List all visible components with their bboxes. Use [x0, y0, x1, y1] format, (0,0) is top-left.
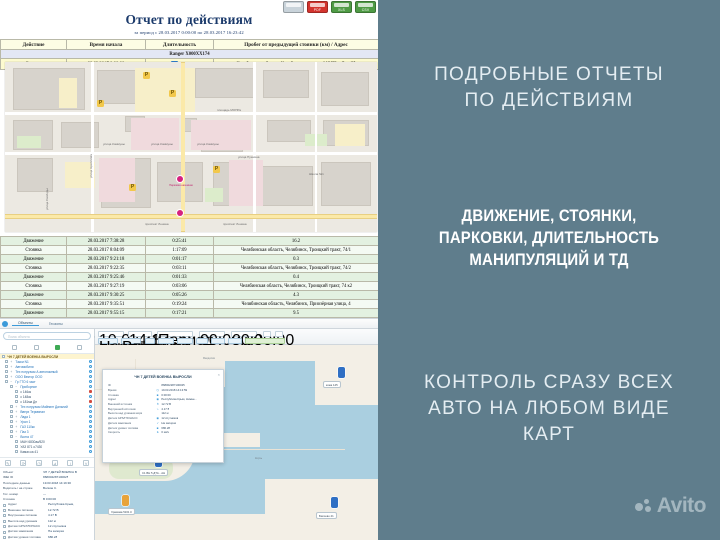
tree-checkbox[interactable]	[5, 365, 8, 368]
popup-value: 868002287100025	[161, 383, 184, 387]
apply-button[interactable]	[245, 338, 285, 344]
promo-bold-line3: МАНИПУЛЯЦИЙ И ТД	[399, 249, 700, 271]
report-toolbar: PDF XLS CSV	[283, 1, 376, 13]
cell-start: 28.03.2017 9:22:35	[67, 264, 146, 273]
filter-group-icon[interactable]	[34, 345, 39, 350]
map-road-major	[5, 214, 377, 219]
property-checkbox[interactable]	[3, 531, 6, 534]
tree-checkbox[interactable]	[15, 400, 18, 403]
popup-key: Внешний источник	[108, 402, 154, 406]
parking-icon: P	[213, 166, 220, 173]
layers-icon[interactable]	[275, 331, 283, 337]
map-marker-pin[interactable]	[177, 176, 183, 182]
zoom-in-button[interactable]	[158, 338, 174, 344]
tracking-map[interactable]: 19.03.18 14:17:30 Период 00:00:00 00:00:…	[95, 329, 378, 540]
cell-start: 28.03.2017 9:25:46	[67, 273, 146, 282]
tree-checkbox[interactable]	[10, 430, 13, 433]
status-icon	[89, 425, 92, 428]
marker-label: Парковка наземная	[157, 184, 205, 187]
expand-icon[interactable]: −	[15, 435, 18, 439]
cell-duration: 0:05:26	[146, 291, 214, 300]
table-row[interactable]: Движение 28.03.2017 9:55:15 0:17:21 9.5	[1, 309, 379, 318]
expand-icon[interactable]: +	[15, 425, 18, 429]
cell-action: Стоянка	[1, 282, 67, 291]
status-icon	[89, 365, 92, 368]
cell-start: 28.03.2017 9:55:15	[67, 309, 146, 318]
promo-bold-block: ДВИЖЕНИЕ, СТОЯНКИ, ПАРКОВКИ, ДЛИТЕЛЬНОСТ…	[399, 205, 700, 271]
tree-item-label: Гр ГТО 6 част	[15, 380, 35, 384]
cell-start: 28.03.2017 9:27:19	[67, 282, 146, 291]
close-icon[interactable]: ×	[218, 372, 220, 377]
cell-duration: 0:03:11	[146, 264, 214, 273]
print-button[interactable]	[283, 1, 304, 13]
filter-all-icon[interactable]	[12, 345, 17, 350]
report-table-continued: Движение 28.03.2017 7:38:28 0:25:41 16.2…	[0, 236, 378, 318]
date-to-input[interactable]: 00:00:00	[199, 331, 225, 337]
tree-checkbox[interactable]	[10, 420, 13, 423]
cell-duration: 0:25:41	[146, 237, 214, 246]
cell-duration: 0:17:21	[146, 309, 214, 318]
edit-icon[interactable]: ✎	[5, 460, 11, 466]
avito-logo-text: Avito	[657, 494, 706, 518]
expand-icon[interactable]: +	[10, 360, 13, 364]
tree-checkbox[interactable]	[15, 440, 18, 443]
popup-title: ЧН 7 ДЕТЕЙ ВОЕНКА ВЫРОСЛИ	[103, 370, 223, 383]
tree-checkbox[interactable]	[5, 375, 8, 378]
status-icon	[89, 360, 92, 363]
popup-key: Датчик уровня топлива	[108, 426, 154, 430]
avito-logo-icon	[635, 499, 652, 514]
popup-value: 4.17 В	[161, 407, 169, 411]
street-label: улица Коммуны	[197, 142, 219, 146]
chart-icon[interactable]: ⊿	[52, 460, 58, 466]
popup-value: 12.72 В	[161, 402, 171, 406]
promo-headline-2-line2: АВТО НА ЛЮБОМ ВИДЕ	[378, 396, 720, 422]
object-properties: ОбъектЧН 7 ДЕТЕЙ ВОЕНКА В IMEI ID8680022…	[0, 468, 94, 540]
status-icon-red	[89, 390, 92, 393]
cell-duration: 0:01:17	[146, 255, 214, 264]
refresh-icon[interactable]: ⟳	[20, 460, 26, 466]
tree-checkbox[interactable]	[10, 385, 13, 388]
parking-icon: P	[143, 72, 150, 79]
map-road	[5, 112, 377, 115]
col-distance: Пробег от предыдущей стоянки (км) / Адре…	[214, 40, 379, 50]
promo-bold-line1: ДВИЖЕНИЕ, СТОЯНКИ,	[399, 205, 700, 227]
tree-filter-icons	[0, 343, 94, 354]
back-button[interactable]: Назад	[98, 338, 118, 344]
cell-duration: 0:19:24	[146, 300, 214, 309]
csv-button[interactable]: CSV	[355, 1, 376, 13]
vehicle-group-row: Ranger X000XX174	[1, 50, 379, 59]
popup-value: 0 км/ч	[161, 430, 169, 434]
street-label: улица Пушкина	[238, 155, 259, 159]
popup-value: 12 спутников	[161, 416, 178, 420]
property-key: Датчик уровня топлива	[8, 535, 46, 540]
parking-icon: ■	[156, 393, 159, 397]
cell-duration: 0:01:33	[146, 273, 214, 282]
object-toolbar: ✎ ⟳ ◷ ⊿ i ⋎	[0, 457, 94, 468]
table-row[interactable]: Движение 28.03.2017 7:38:28 0:25:41 16.2	[1, 237, 379, 246]
promo-headline-1: ПОДРОБНЫЕ ОТЧЕТЫ ПО ДЕЙСТВИЯМ	[378, 62, 720, 114]
vehicle-marker-label: Бахчево 41	[316, 512, 337, 519]
search-input[interactable]: Поиск объекта ×	[3, 332, 91, 340]
cell-start: 28.03.2017 8:04:09	[67, 246, 146, 255]
street-label: улица Свободы	[45, 188, 49, 210]
tree-item-label: Вверх Терминал	[20, 410, 44, 414]
status-icon	[89, 415, 92, 418]
property-checkbox[interactable]	[3, 504, 6, 507]
tree-item-label: Приборное	[20, 385, 37, 389]
property-checkbox[interactable]	[3, 536, 6, 539]
tab-geozones[interactable]: Геозоны	[43, 322, 69, 326]
vehicle-marker[interactable]	[338, 367, 345, 378]
tree-checkbox[interactable]	[15, 450, 18, 453]
expand-icon[interactable]: +	[15, 410, 18, 414]
parking-icon: P	[129, 184, 136, 191]
status-icon	[89, 375, 92, 378]
map-road	[253, 62, 256, 232]
cell-info: Челябинская область, Челябинск, Троицкий…	[214, 282, 379, 291]
tree-item-label: ЧН 7 ДЕТЕЙ ВОЕНКА ВЫРОСЛИ	[7, 355, 58, 359]
promo-headline-1-line2: ПО ДЕЙСТВИЯМ	[378, 88, 720, 114]
mode-select[interactable]: Период	[157, 331, 193, 337]
property-checkbox[interactable]	[3, 520, 6, 523]
status-icon	[89, 430, 92, 433]
location-icon: ◉	[156, 397, 159, 401]
popup-value: 19.03.2018 14:13:59	[161, 388, 187, 392]
tree-checkbox[interactable]	[10, 405, 13, 408]
tree-item-label: Автомобили	[15, 365, 33, 369]
report-period: за период с 28.03.2017 0:00:00 по 28.03.…	[0, 30, 378, 35]
cell-info: 4.3	[214, 291, 379, 300]
tree-checkbox[interactable]	[15, 390, 18, 393]
calendar-icon[interactable]	[263, 331, 271, 337]
street-label: площадь МОПРа	[217, 108, 241, 112]
map-land	[315, 345, 378, 405]
power-icon: ↯	[156, 402, 159, 406]
promo-bold-line2: ПАРКОВКИ, ДЛИТЕЛЬНОСТЬ	[399, 227, 700, 249]
cell-info: Челябинская область, Челябинск, Приозёрн…	[214, 300, 379, 309]
table-row[interactable]: Движение 28.03.2017 9:30:25 0:05:26 4.3	[1, 291, 379, 300]
popup-key: Датчик зажигания	[108, 421, 154, 425]
city-street-map[interactable]: площадь МОПРа улица Коммуны улица Коммун…	[5, 62, 377, 232]
status-icon	[89, 385, 92, 388]
property-value: 680.28	[48, 535, 57, 540]
status-icon	[89, 410, 92, 413]
fuel-icon: ■	[156, 426, 159, 430]
pdf-button[interactable]: PDF	[307, 1, 328, 13]
cell-action: Стоянка	[1, 264, 67, 273]
tree-item-label: с 148кк	[20, 395, 31, 399]
cell-start: 28.03.2017 7:38:28	[67, 237, 146, 246]
place-label: Феодосия	[203, 357, 215, 360]
cell-info: 0.3	[214, 255, 379, 264]
tree-item[interactable]: Камаз ка 41	[0, 449, 94, 454]
street-label: улица Коммуны	[151, 142, 173, 146]
cell-action: Стоянка	[1, 246, 67, 255]
filter-online-icon[interactable]	[55, 345, 60, 350]
status-icon	[89, 440, 92, 443]
expand-icon[interactable]: −	[15, 385, 18, 389]
left-collage: PDF XLS CSV Отчет по действиям за период…	[0, 0, 378, 540]
street-label: проспект Ленина	[223, 222, 247, 226]
table-row[interactable]: Стоянка 28.03.2017 8:04:09 1:17:09 Челяб…	[1, 246, 379, 255]
vehicle-marker[interactable]	[331, 497, 338, 508]
promo-panel: ПОДРОБНЫЕ ОТЧЕТЫ ПО ДЕЙСТВИЯМ ДВИЖЕНИЕ, …	[378, 0, 720, 540]
col-action: Действие	[1, 40, 67, 50]
cell-info: 0.4	[214, 273, 379, 282]
popup-key: Датчик GPS/ГЛОНАСС	[108, 416, 154, 420]
status-icon	[89, 395, 92, 398]
map-road-major	[181, 62, 185, 232]
status-icon	[89, 380, 92, 383]
status-icon	[89, 420, 92, 423]
popup-key: Адрес	[108, 397, 154, 401]
tree-checkbox[interactable]	[15, 395, 18, 398]
popup-value: На запорах	[161, 421, 176, 425]
popup-key: Внутренний источник	[108, 407, 154, 411]
tree-item-label: Лада 1	[20, 415, 30, 419]
street-label: Школа №1	[309, 172, 324, 176]
table-row[interactable]: Движение 28.03.2017 9:25:46 0:01:33 0.4	[1, 273, 379, 282]
tree-checkbox[interactable]	[5, 370, 8, 373]
status-icon-red	[89, 400, 92, 403]
status-icon	[89, 445, 92, 448]
forward-button[interactable]: Вперед	[121, 338, 141, 344]
ignition-icon: ✓	[156, 421, 159, 425]
expand-icon[interactable]: −	[10, 380, 13, 384]
popup-value: 680.28	[161, 426, 170, 430]
cell-start: 28.03.2017 9:21:18	[67, 255, 146, 264]
table-header-row: Действие Время начала Длительность Пробе…	[1, 40, 379, 50]
cell-info: 16.2	[214, 237, 379, 246]
vehicle-marker-label: Храмова 5161 К	[108, 508, 135, 515]
time-to-input[interactable]: 00:00:00	[231, 331, 257, 337]
col-start: Время начала	[67, 40, 146, 50]
promo-headline-1-line1: ПОДРОБНЫЕ ОТЧЕТЫ	[378, 62, 720, 88]
map-road	[315, 62, 317, 232]
cell-action: Движение	[1, 255, 67, 264]
tree-item-label: OOO Вектор ООО	[15, 375, 42, 379]
cell-action: Движение	[1, 291, 67, 300]
street-label: проспект Ленина	[145, 222, 169, 226]
vehicle-info-popup[interactable]: × ЧН 7 ДЕТЕЙ ВОЕНКА ВЫРОСЛИ ID8680022871…	[102, 369, 224, 463]
popup-key: Скорость	[108, 430, 154, 434]
table-row[interactable]: Движение 28.03.2017 9:21:18 0:01:17 0.3	[1, 255, 379, 264]
vehicle-marker-label: кожа 145	[323, 381, 341, 388]
filter-icon[interactable]: ⋎	[83, 460, 89, 466]
play-button[interactable]	[145, 338, 155, 344]
expand-icon[interactable]: +	[15, 415, 18, 419]
promo-headline-2: КОНТРОЛЬ СРАЗУ ВСЕХ АВТО НА ЛЮБОМ ВИДЕ К…	[378, 370, 720, 448]
status-icon	[89, 435, 92, 438]
cell-start: 28.03.2017 9:30:25	[67, 291, 146, 300]
tree-checkbox[interactable]	[10, 410, 13, 413]
clock-icon[interactable]: ◷	[36, 460, 42, 466]
cell-start: 28.03.2017 9:35:51	[67, 300, 146, 309]
tree-item-label: Такси N1	[15, 360, 28, 364]
map-toolbar: 19.03.18 14:17:30 Период 00:00:00 00:00:…	[95, 329, 378, 345]
tree-checkbox[interactable]	[10, 435, 13, 438]
promo-headline-2-line1: КОНТРОЛЬ СРАЗУ ВСЕХ	[378, 370, 720, 396]
street-label: улица Цвиллинга	[89, 154, 93, 178]
tree-item-label: с 181ма Дн	[20, 400, 37, 404]
popup-key: Стоянка	[108, 393, 154, 397]
tree-item-label: Волга 47	[20, 435, 33, 439]
table-row[interactable]: Стоянка 28.03.2017 9:35:51 0:19:24 Челяб…	[1, 300, 379, 309]
property-checkbox[interactable]	[3, 525, 6, 528]
map-road	[91, 62, 94, 232]
tree-checkbox[interactable]	[10, 415, 13, 418]
vehicle-marker[interactable]	[122, 495, 129, 506]
promo-headline-2-line3: КАРТ	[378, 422, 720, 448]
popup-value: 0:00:00	[161, 393, 170, 397]
tree-item-label: Тех погрузчик А автономный	[15, 370, 57, 374]
cell-info: Челябинская область, Челябинск, Троицкий…	[214, 246, 379, 255]
cell-action: Движение	[1, 309, 67, 318]
tree-item-label: Тех погрузчик Майнинг Дальний	[20, 405, 67, 409]
cell-action: Движение	[1, 237, 67, 246]
table-row[interactable]: Стоянка 28.03.2017 9:27:19 0:03:06 Челяб…	[1, 282, 379, 291]
tree-checkbox[interactable]	[5, 360, 8, 363]
tab-objects[interactable]: Объекты	[12, 321, 39, 326]
cell-action: Движение	[1, 273, 67, 282]
expand-icon[interactable]: +	[15, 430, 18, 434]
parking-icon: P	[97, 100, 104, 107]
place-label: Керчь	[255, 457, 262, 460]
measure-button[interactable]	[211, 338, 225, 344]
popup-value: Республика Крым, Нижне...	[161, 397, 197, 401]
cell-action: Стоянка	[1, 300, 67, 309]
property-checkbox[interactable]	[3, 509, 6, 512]
tree-checkbox[interactable]	[15, 445, 18, 448]
screenshot-root: PDF XLS CSV Отчет по действиям за период…	[0, 0, 720, 540]
xls-button[interactable]: XLS	[331, 1, 352, 13]
tree-item-label: ГАЗ 110кк	[20, 425, 34, 429]
app-logo-icon	[2, 321, 8, 327]
table-row[interactable]: Стоянка 28.03.2017 9:22:35 0:03:11 Челяб…	[1, 264, 379, 273]
tracking-app-window: Объекты Геозоны Поиск объекта × ЧН 7 ДЕ	[0, 318, 378, 540]
cell-info: Челябинская область, Челябинск, Троицкий…	[214, 264, 379, 273]
map-road	[5, 152, 377, 155]
status-icon	[89, 450, 92, 453]
expand-icon[interactable]: +	[10, 365, 13, 369]
popup-value: 112 м	[161, 411, 168, 415]
clock-icon: ◷	[156, 388, 159, 392]
street-label: улица Коммуны	[103, 142, 125, 146]
popup-key: Время	[108, 388, 154, 392]
cell-duration: 0:03:06	[146, 282, 214, 291]
cell-duration: 1:17:09	[146, 246, 214, 255]
zoom-out-button[interactable]	[177, 338, 193, 344]
filter-offline-icon[interactable]	[77, 345, 82, 350]
route-button[interactable]	[228, 338, 242, 344]
expand-icon[interactable]: +	[15, 420, 18, 424]
expand-icon[interactable]: +	[10, 375, 13, 379]
popup-key: ID	[108, 383, 154, 387]
speed-icon: ➤	[156, 430, 159, 434]
cell-info: 9.5	[214, 309, 379, 318]
vehicle-marker-label: С1 ВН 5 ДТА - АН	[139, 469, 168, 476]
status-icon	[89, 370, 92, 373]
property-row: Датчик уровня топлива680.28	[3, 535, 91, 540]
info-icon[interactable]: i	[67, 460, 73, 466]
col-duration: Длительность	[146, 40, 214, 50]
property-checkbox[interactable]	[3, 514, 6, 517]
tree-checkbox[interactable]	[5, 380, 8, 383]
vehicle-name: Ranger X000XX174	[1, 50, 379, 59]
tree-checkbox[interactable]	[10, 425, 13, 428]
activity-report: PDF XLS CSV Отчет по действиям за период…	[0, 0, 378, 318]
tree-checkbox[interactable]	[2, 355, 5, 358]
parking-icon: P	[169, 90, 176, 97]
expand-icon[interactable]: +	[10, 370, 13, 374]
app-tabbar: Объекты Геозоны	[0, 319, 378, 329]
track-button[interactable]	[196, 338, 208, 344]
time-from-input[interactable]: 14:17:30	[128, 331, 152, 337]
battery-icon: ⌁	[156, 407, 159, 411]
search-placeholder: Поиск объекта	[8, 335, 30, 339]
avito-watermark: Avito	[635, 494, 706, 518]
popup-key: Высота над уровнем моря	[108, 411, 154, 415]
satellite-icon: ◉	[156, 416, 159, 420]
date-from-input[interactable]: 19.03.18	[98, 331, 124, 337]
tree-item-label: Урал 1	[20, 420, 30, 424]
tree-item-label: МАН 6830ак/520	[20, 440, 44, 444]
tree-item-label: Паз 3	[20, 430, 28, 434]
map-marker-pin[interactable]	[177, 210, 183, 216]
expand-icon[interactable]: +	[15, 405, 18, 409]
object-tree-panel: Поиск объекта × ЧН 7 ДЕТЕЙ ВОЕНКА ВЫРОСЛ…	[0, 329, 95, 540]
tree-item-label: УАЗ 871 о7430	[20, 445, 42, 449]
status-icon	[89, 405, 92, 408]
popup-row: Скорость➤0 км/ч	[103, 430, 223, 435]
tree-item-label: с 146кк	[20, 390, 31, 394]
tree-item-label: Камаз ка 41	[20, 450, 38, 454]
